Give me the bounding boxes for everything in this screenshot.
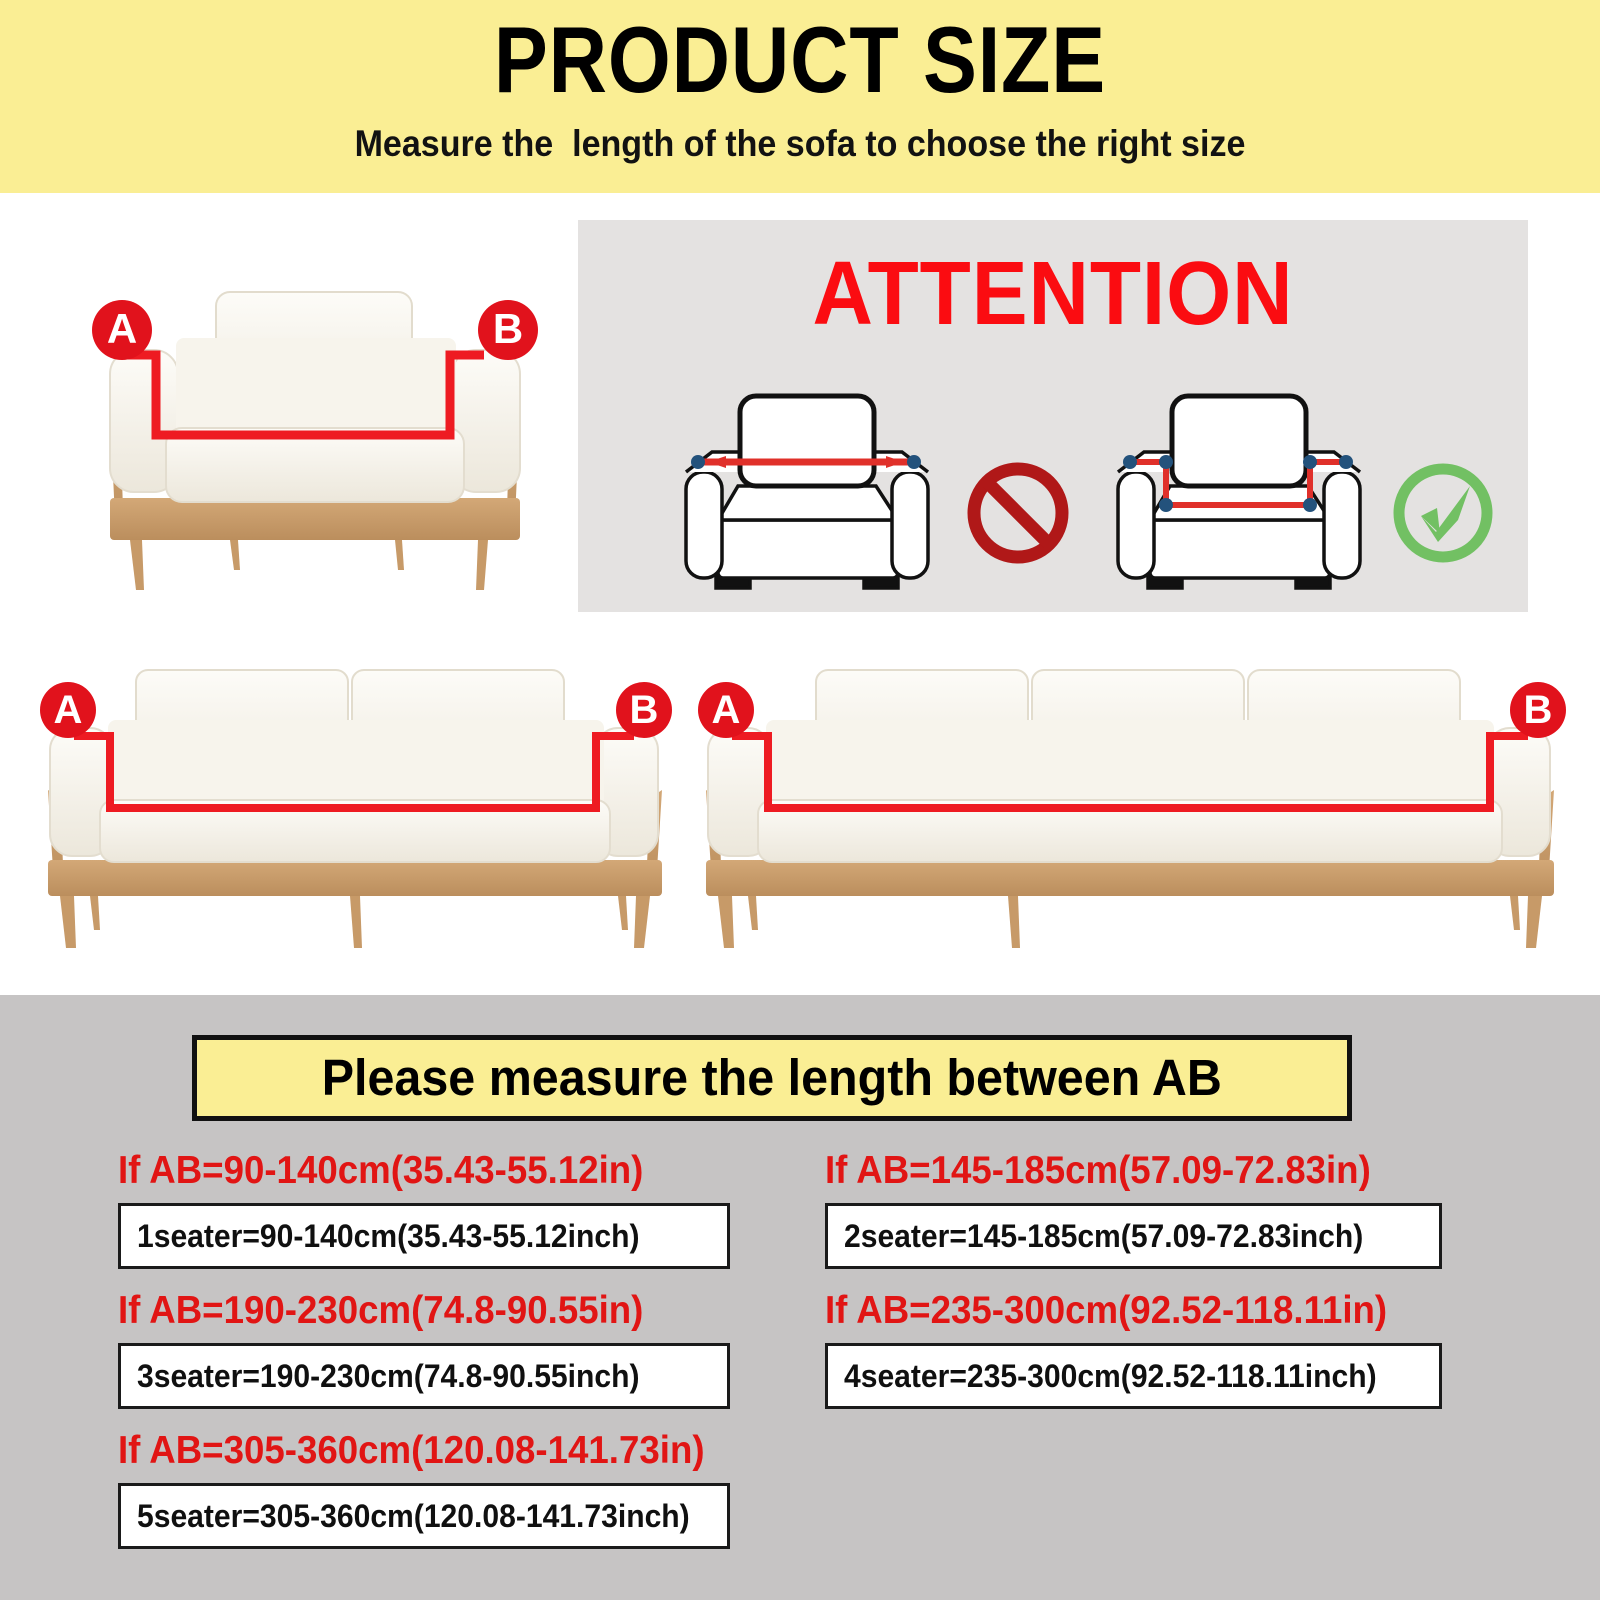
svg-text:B: B bbox=[1524, 688, 1553, 732]
value-box-4seater: 4seater=235-300cm(92.52-118.11inch) bbox=[825, 1343, 1442, 1409]
marker-a: A bbox=[40, 682, 96, 738]
value-text-5seater: 5seater=305-360cm(120.08-141.73inch) bbox=[137, 1497, 690, 1535]
page-subtitle: Measure the length of the sofa to choose… bbox=[64, 120, 1536, 168]
prohibition-icon bbox=[963, 458, 1073, 568]
two-seater-sofa-figure: A B bbox=[30, 648, 680, 958]
svg-text:B: B bbox=[630, 688, 659, 732]
size-row-3seater: If AB=190-230cm(74.8-90.55in) 3seater=19… bbox=[118, 1285, 730, 1409]
value-text-2seater: 2seater=145-185cm(57.09-72.83inch) bbox=[844, 1217, 1363, 1255]
value-box-2seater: 2seater=145-185cm(57.09-72.83inch) bbox=[825, 1203, 1442, 1269]
measure-endpoint-dot bbox=[907, 455, 921, 469]
correct-chair-lineart bbox=[1088, 370, 1388, 600]
marker-a: A bbox=[92, 300, 152, 360]
product-size-infographic: PRODUCT SIZE Measure the length of the s… bbox=[0, 0, 1600, 1600]
attention-panel: ATTENTION bbox=[578, 220, 1528, 612]
size-row-4seater: If AB=235-300cm(92.52-118.11in) 4seater=… bbox=[825, 1285, 1442, 1409]
attention-title: ATTENTION bbox=[611, 246, 1495, 342]
marker-b: B bbox=[616, 682, 672, 738]
svg-text:A: A bbox=[107, 305, 137, 352]
value-box-5seater: 5seater=305-360cm(120.08-141.73inch) bbox=[118, 1483, 730, 1549]
prohibition-badge bbox=[963, 458, 1073, 568]
measure-endpoint-dot bbox=[1123, 455, 1137, 469]
measure-corner-dot bbox=[1159, 455, 1173, 469]
measure-corner-dot bbox=[1303, 455, 1317, 469]
measure-endpoint-dot bbox=[691, 455, 705, 469]
three-seater-sofa-figure: A B bbox=[690, 648, 1570, 958]
condition-label-2seater: If AB=145-185cm(57.09-72.83in) bbox=[825, 1145, 1405, 1197]
wrong-measure-diagram bbox=[656, 370, 956, 600]
size-row-2seater: If AB=145-185cm(57.09-72.83in) 2seater=1… bbox=[825, 1145, 1442, 1269]
size-row-1seater: If AB=90-140cm(35.43-55.12in) 1seater=90… bbox=[118, 1145, 730, 1269]
measure-instruction-text: Please measure the length between AB bbox=[322, 1050, 1222, 1106]
one-seater-sofa-illustration: A B bbox=[80, 250, 550, 595]
size-table-left-column: If AB=90-140cm(35.43-55.12in) 1seater=90… bbox=[118, 1145, 730, 1565]
value-box-3seater: 3seater=190-230cm(74.8-90.55inch) bbox=[118, 1343, 730, 1409]
header-banner: PRODUCT SIZE Measure the length of the s… bbox=[0, 0, 1600, 193]
marker-b: B bbox=[478, 300, 538, 360]
measure-corner-dot bbox=[1303, 498, 1317, 512]
svg-text:A: A bbox=[54, 688, 83, 732]
measure-endpoint-dot bbox=[1339, 455, 1353, 469]
condition-label-4seater: If AB=235-300cm(92.52-118.11in) bbox=[825, 1285, 1405, 1337]
marker-a: A bbox=[698, 682, 754, 738]
wrong-chair-lineart bbox=[656, 370, 956, 600]
condition-label-5seater: If AB=305-360cm(120.08-141.73in) bbox=[118, 1425, 693, 1477]
two-seater-sofa-illustration: A B bbox=[30, 648, 680, 958]
measure-corner-dot bbox=[1159, 498, 1173, 512]
svg-text:A: A bbox=[712, 688, 741, 732]
correct-measure-diagram bbox=[1088, 370, 1388, 600]
measure-instruction-banner: Please measure the length between AB bbox=[192, 1035, 1352, 1121]
condition-label-1seater: If AB=90-140cm(35.43-55.12in) bbox=[118, 1145, 693, 1197]
svg-text:B: B bbox=[493, 305, 523, 352]
three-seater-sofa-illustration: A B bbox=[690, 648, 1570, 958]
one-seater-sofa-figure: A B bbox=[80, 250, 550, 595]
check-circle-icon bbox=[1388, 458, 1498, 568]
value-text-1seater: 1seater=90-140cm(35.43-55.12inch) bbox=[137, 1217, 640, 1255]
condition-label-3seater: If AB=190-230cm(74.8-90.55in) bbox=[118, 1285, 693, 1337]
value-text-4seater: 4seater=235-300cm(92.52-118.11inch) bbox=[844, 1357, 1377, 1395]
size-row-5seater: If AB=305-360cm(120.08-141.73in) 5seater… bbox=[118, 1425, 730, 1549]
value-box-1seater: 1seater=90-140cm(35.43-55.12inch) bbox=[118, 1203, 730, 1269]
size-chart-section: Please measure the length between AB If … bbox=[0, 995, 1600, 1600]
figures-section: A B bbox=[0, 193, 1600, 995]
size-table-right-column: If AB=145-185cm(57.09-72.83in) 2seater=1… bbox=[825, 1145, 1442, 1425]
marker-b: B bbox=[1510, 682, 1566, 738]
page-title: PRODUCT SIZE bbox=[112, 8, 1488, 112]
approved-badge bbox=[1388, 458, 1498, 568]
value-text-3seater: 3seater=190-230cm(74.8-90.55inch) bbox=[137, 1357, 640, 1395]
